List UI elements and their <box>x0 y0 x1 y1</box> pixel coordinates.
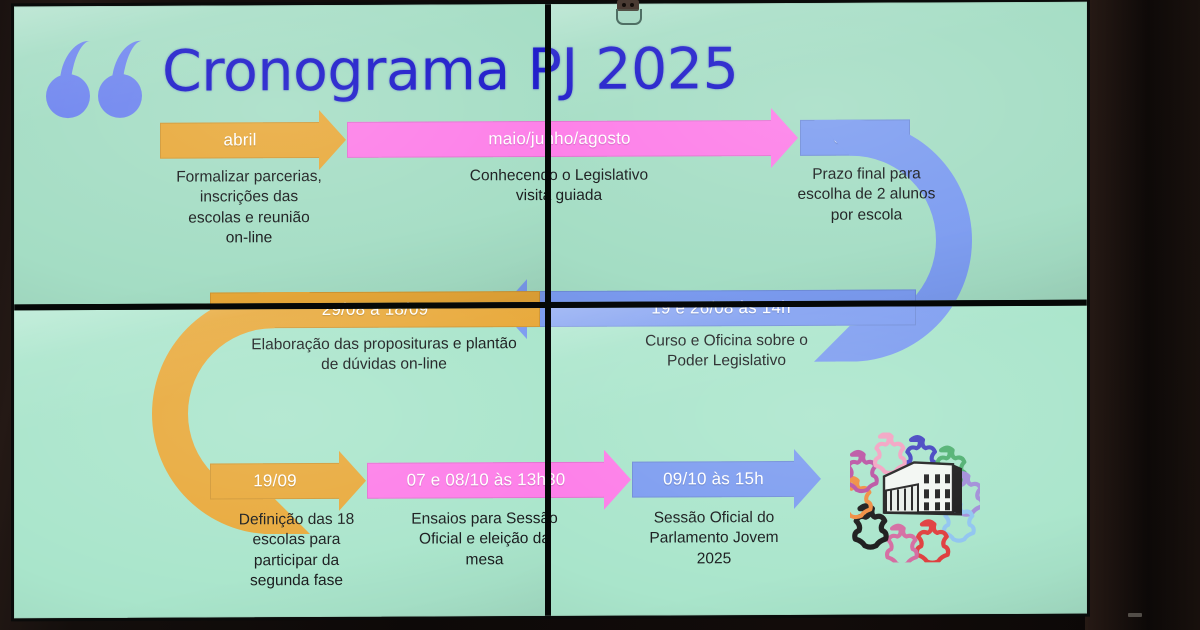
status-led-indicator <box>1128 613 1142 617</box>
video-wall: Cronograma PJ 2025 abril Formalizar parc… <box>14 2 1087 619</box>
caption-maio-junho-agosto: Conhecendo o Legislativovisita guiada <box>551 165 704 207</box>
segment-label: abril <box>223 130 256 150</box>
segment-bar-07-08-10: 07 e 08/10 às 13h30 <box>367 462 545 499</box>
caption-29-08-18-09: Elaboração das proposituras e plantãode … <box>234 334 534 376</box>
arrow-head-icon <box>319 110 346 170</box>
arrow-head-icon <box>339 451 366 511</box>
slide-canvas-tl: Cronograma PJ 2025 abril Formalizar parc… <box>14 4 545 304</box>
caption-07-08-10: Ensaios para SessãoOficial e eleição da … <box>551 509 587 571</box>
segment-label: maio/junho/agosto <box>488 129 545 150</box>
caption-maio-junho-agosto: Conhecendo o Legislativo visita guiada <box>414 165 545 207</box>
segment-bar-abril: abril <box>160 122 320 159</box>
segment-bar-maio-junho-agosto: maio/junho/agosto <box>347 120 545 158</box>
wall-sheen <box>1085 0 1200 630</box>
webcam-clip-icon <box>613 0 641 24</box>
panel-top-left: Cronograma PJ 2025 abril Formalizar parc… <box>14 4 545 304</box>
segment-bar-maio-junho-agosto: maio/junho/agosto <box>551 120 772 158</box>
panel-bottom-right: 08/08 19 e 26/08 às 14h Curso e Oficina … <box>551 306 1087 616</box>
segment-bar-07-08-10: 07 e 08/10 às 13h30 <box>551 462 605 499</box>
arrow-head-icon <box>771 108 798 168</box>
slide-canvas-bl: 08/08 19 e 26/08 às 14h Curso e Oficina … <box>14 308 545 618</box>
caption-19-09: Definição das 18escolas para participar … <box>209 510 384 593</box>
slide-canvas-tr: Cronograma PJ 2025 abril Formalizar parc… <box>551 2 1087 302</box>
parlamento-jovem-logo <box>850 432 980 563</box>
segment-bar-09-10: 09/10 às 15h <box>632 461 795 498</box>
double-quote-icon <box>46 40 154 118</box>
bezel-seam-vertical <box>545 4 551 616</box>
caption-08-08: Prazo final paraescolha de 2 alunos por … <box>764 164 969 226</box>
caption-09-10: Sessão Oficial doParlamento Jovem 2025 <box>614 508 814 570</box>
screenshot-scene: Cronograma PJ 2025 abril Formalizar parc… <box>0 0 1200 630</box>
page-title: Cronograma PJ 2025 <box>162 41 545 101</box>
segment-bar-19-09: 19/09 <box>210 463 340 500</box>
building-icon <box>884 462 962 514</box>
panel-top-right: Cronograma PJ 2025 abril Formalizar parc… <box>551 2 1087 302</box>
segment-bar-19-26-08: 19 e 26/08 às 14h <box>551 306 916 327</box>
arrow-head-icon <box>794 449 821 509</box>
caption-abril: Formalizar parcerias, inscrições das esc… <box>154 167 344 250</box>
panel-bottom-left: 08/08 19 e 26/08 às 14h Curso e Oficina … <box>14 308 545 618</box>
caption-19-26-08: Curso e Oficina sobre oPoder Legislativo <box>589 331 864 373</box>
arrow-head-icon <box>604 450 631 510</box>
page-title: Cronograma PJ 2025 <box>551 41 738 101</box>
caption-07-08-10: Ensaios para SessãoOficial e eleição da … <box>382 509 545 571</box>
slide-canvas-br: 08/08 19 e 26/08 às 14h Curso e Oficina … <box>551 306 1087 616</box>
